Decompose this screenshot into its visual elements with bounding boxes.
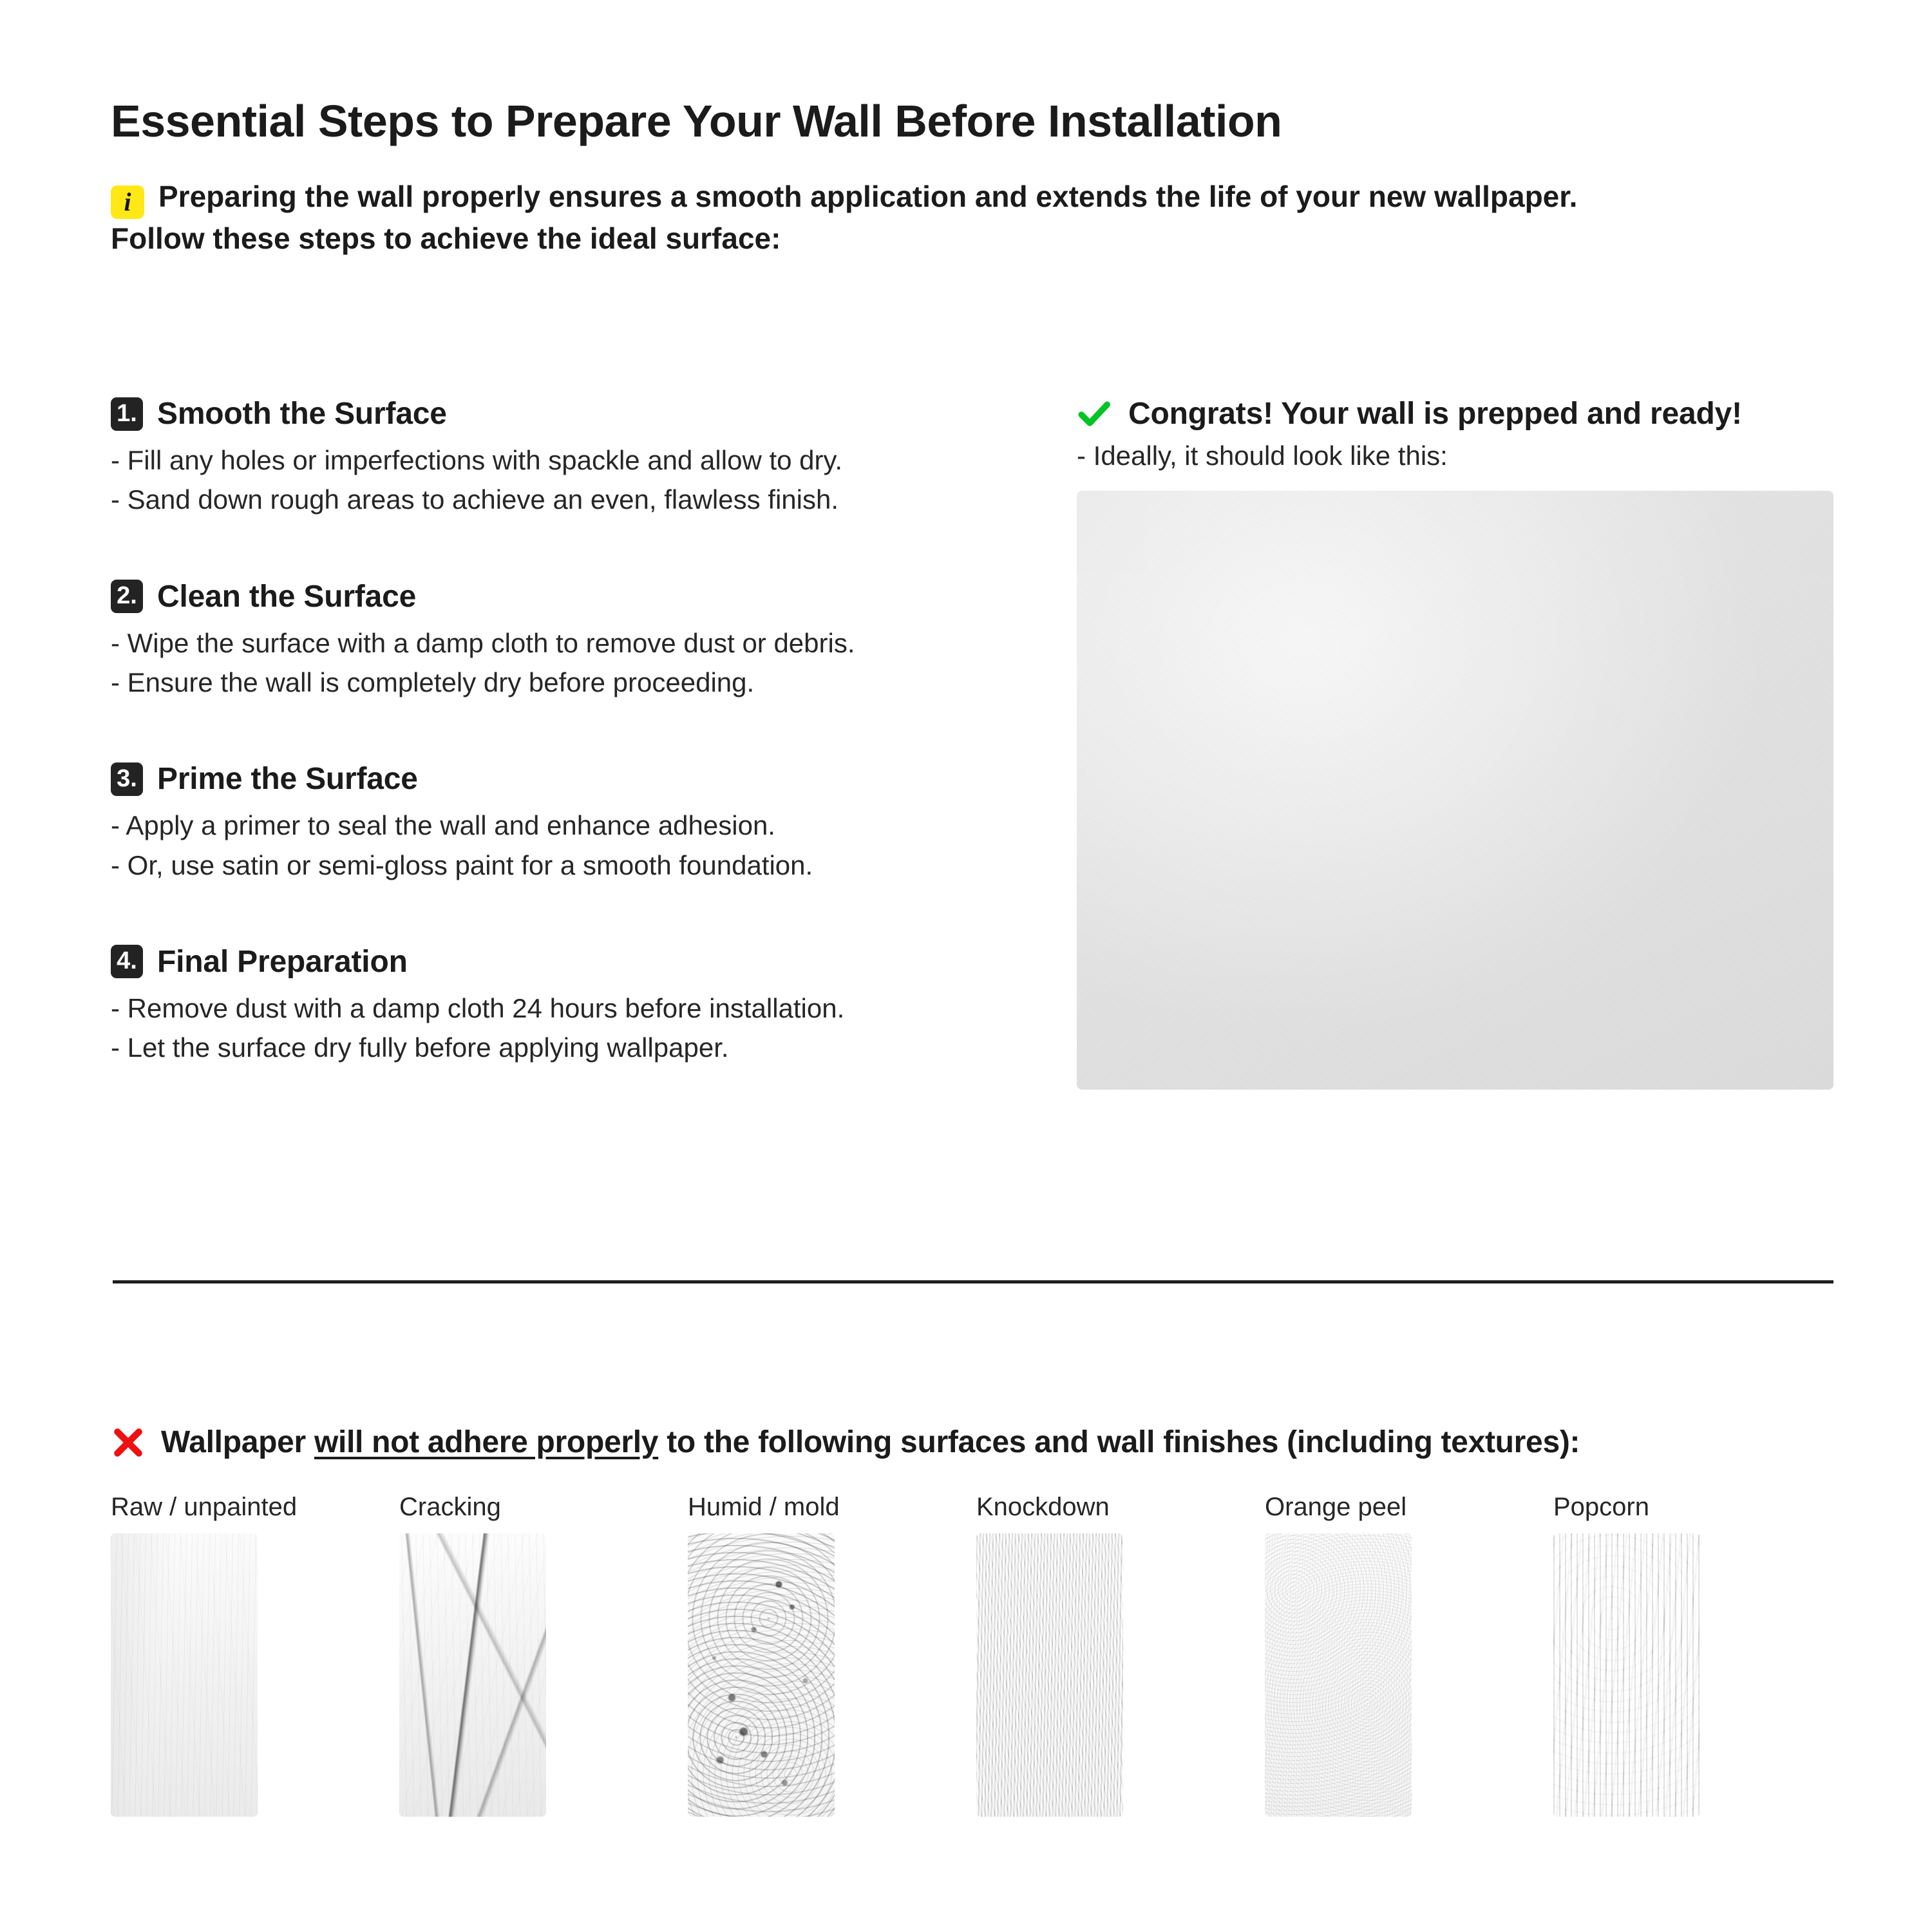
wall-prep-infographic: Essential Steps to Prepare Your Wall Bef… xyxy=(0,0,1932,1932)
step-number-badge: 1. xyxy=(111,397,143,431)
bad-surface-item: Cracking xyxy=(399,1493,688,1817)
step-title: Smooth the Surface xyxy=(157,396,447,431)
step-bullet: - Apply a primer to seal the wall and en… xyxy=(111,806,1077,845)
step-bullet: - Let the surface dry fully before apply… xyxy=(111,1028,1077,1067)
warning-header: Wallpaper will not adhere properly to th… xyxy=(111,1425,1837,1460)
step-number-badge: 4. xyxy=(111,945,143,978)
ideal-wall-image xyxy=(1077,491,1833,1090)
warning-text-underlined: will not adhere properly xyxy=(314,1425,658,1459)
bad-surface-image-knockdown xyxy=(976,1533,1123,1817)
bad-surface-image-popcorn xyxy=(1553,1533,1700,1817)
intro-paragraph: iPreparing the wall properly ensures a s… xyxy=(111,177,1837,258)
bad-surface-label: Humid / mold xyxy=(688,1493,976,1522)
step-item: 4. Final Preparation - Remove dust with … xyxy=(111,944,1077,1068)
step-header: 2. Clean the Surface xyxy=(111,579,1077,614)
bad-surface-label: Knockdown xyxy=(976,1493,1265,1522)
step-number-badge: 3. xyxy=(111,762,143,796)
step-item: 3. Prime the Surface - Apply a primer to… xyxy=(111,761,1077,885)
header-block: Essential Steps to Prepare Your Wall Bef… xyxy=(111,97,1837,258)
step-item: 1. Smooth the Surface - Fill any holes o… xyxy=(111,396,1077,520)
bad-surface-label: Raw / unpainted xyxy=(111,1493,399,1522)
warning-block: Wallpaper will not adhere properly to th… xyxy=(111,1425,1837,1460)
bad-surface-item: Knockdown xyxy=(976,1493,1265,1817)
bad-surface-gallery: Raw / unpainted Cracking Humid / mold Kn… xyxy=(111,1493,1843,1817)
intro-line-2: Follow these steps to achieve the ideal … xyxy=(111,222,781,255)
step-header: 4. Final Preparation xyxy=(111,944,1077,980)
warning-text-before: Wallpaper xyxy=(161,1425,314,1459)
bad-surface-item: Orange peel xyxy=(1265,1493,1553,1817)
step-item: 2. Clean the Surface - Wipe the surface … xyxy=(111,579,1077,703)
bad-surface-image-orange-peel xyxy=(1265,1533,1412,1817)
congrats-column: Congrats! Your wall is prepped and ready… xyxy=(1077,396,1837,1090)
step-title: Clean the Surface xyxy=(157,579,416,614)
step-bullet: - Or, use satin or semi-gloss paint for … xyxy=(111,846,1077,885)
bad-surface-image-cracking xyxy=(399,1533,546,1817)
congrats-subtitle: - Ideally, it should look like this: xyxy=(1077,440,1837,471)
step-bullet: - Remove dust with a damp cloth 24 hours… xyxy=(111,989,1077,1028)
step-header: 3. Prime the Surface xyxy=(111,761,1077,797)
bad-surface-image-humid-mold xyxy=(688,1533,835,1817)
step-title: Final Preparation xyxy=(157,944,408,980)
bad-surface-item: Popcorn xyxy=(1553,1493,1842,1817)
step-number-badge: 2. xyxy=(111,580,143,613)
step-title: Prime the Surface xyxy=(157,761,418,797)
step-bullet: - Fill any holes or imperfections with s… xyxy=(111,440,1077,480)
section-divider xyxy=(113,1280,1833,1283)
x-icon xyxy=(111,1425,146,1460)
bad-surface-item: Humid / mold xyxy=(688,1493,976,1817)
bad-surface-image-raw-unpainted xyxy=(111,1533,258,1817)
congrats-header: Congrats! Your wall is prepped and ready… xyxy=(1077,396,1837,431)
warning-text-after: to the following surfaces and wall finis… xyxy=(658,1425,1580,1459)
info-icon: i xyxy=(111,185,144,219)
main-columns: 1. Smooth the Surface - Fill any holes o… xyxy=(111,396,1837,1090)
intro-line-1: Preparing the wall properly ensures a sm… xyxy=(158,180,1577,213)
bad-surface-label: Cracking xyxy=(399,1493,688,1522)
step-bullet: - Sand down rough areas to achieve an ev… xyxy=(111,480,1077,519)
bad-surface-label: Orange peel xyxy=(1265,1493,1553,1522)
bad-surface-item: Raw / unpainted xyxy=(111,1493,399,1817)
check-icon xyxy=(1077,397,1112,431)
bad-surface-label: Popcorn xyxy=(1553,1493,1842,1522)
page-title: Essential Steps to Prepare Your Wall Bef… xyxy=(111,97,1837,146)
warning-text: Wallpaper will not adhere properly to th… xyxy=(161,1425,1580,1460)
step-bullet: - Wipe the surface with a damp cloth to … xyxy=(111,623,1077,663)
step-bullet: - Ensure the wall is completely dry befo… xyxy=(111,663,1077,702)
congrats-title: Congrats! Your wall is prepped and ready… xyxy=(1128,396,1742,431)
step-header: 1. Smooth the Surface xyxy=(111,396,1077,431)
steps-column: 1. Smooth the Surface - Fill any holes o… xyxy=(111,396,1077,1090)
